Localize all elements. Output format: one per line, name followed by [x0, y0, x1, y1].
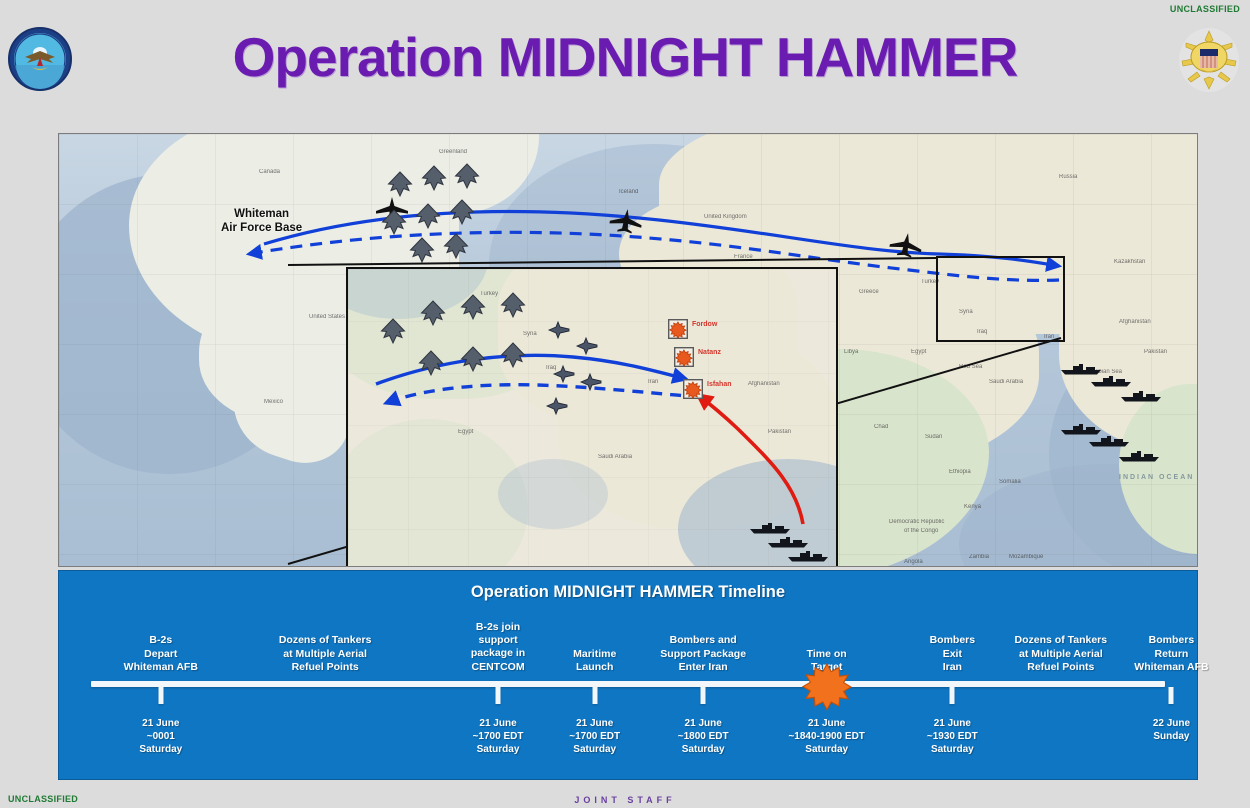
target-label-fordow: Fordow: [692, 321, 717, 328]
fighter-jet-icon: [548, 321, 570, 339]
timeline-event-1: Dozens of Tankersat Multiple AerialRefue…: [279, 634, 372, 674]
inset-map-middle-east: Turkey Syria Iraq Iran Saudi Arabia Egyp…: [346, 267, 838, 567]
timeline-event-7: Dozens of Tankersat Multiple AerialRefue…: [1015, 634, 1108, 674]
slide-canvas: UNCLASSIFIED UNCLASSIFIED JOINT STAFF Op…: [0, 0, 1250, 808]
timeline-date-5: 21 June~1930 EDTSaturday: [927, 717, 978, 757]
b2-bomber-icon: [500, 293, 526, 317]
timeline-event-3: MaritimeLaunch: [573, 648, 616, 675]
timeline-tick-2: [592, 687, 597, 704]
timeline-panel: Operation MIDNIGHT HAMMER Timeline B-2sD…: [58, 570, 1198, 780]
b2-bomber-icon: [500, 343, 526, 367]
timeline-tick-3: [701, 687, 706, 704]
timeline-tick-6: [1169, 687, 1174, 704]
fighter-jet-icon: [553, 365, 575, 383]
target-isfahan: [683, 379, 703, 399]
department-of-defense-seal-icon: [8, 27, 72, 91]
fighter-jet-icon: [546, 397, 568, 415]
fighter-jet-icon: [580, 373, 602, 391]
timeline-event-6: BombersExitIran: [930, 634, 976, 674]
timeline-date-6: 22 JuneSunday: [1153, 717, 1190, 743]
time-on-target-burst-icon: [805, 664, 849, 708]
joint-staff-crest-icon: [1178, 27, 1240, 93]
b2-bomber-icon: [420, 301, 446, 325]
timeline-event-0: B-2sDepartWhiteman AFB: [124, 634, 198, 674]
b2-bomber-icon: [418, 351, 444, 375]
timeline-event-4: Bombers andSupport PackageEnter Iran: [660, 634, 746, 674]
naval-ship-icon: [748, 521, 792, 534]
timeline-tick-5: [950, 687, 955, 704]
target-fordow: [668, 319, 688, 339]
page-title: Operation MIDNIGHT HAMMER: [120, 30, 1130, 85]
fighter-jet-icon: [576, 337, 598, 355]
b2-bomber-icon: [380, 319, 406, 343]
target-label-isfahan: Isfahan: [707, 381, 732, 388]
timeline-event-2: B-2s joinsupportpackage inCENTCOM: [471, 621, 525, 675]
b2-bomber-icon: [460, 347, 486, 371]
timeline-tick-1: [496, 687, 501, 704]
timeline-axis: [91, 681, 1165, 687]
timeline-title: Operation MIDNIGHT HAMMER Timeline: [59, 583, 1197, 602]
timeline-event-8: BombersReturnWhiteman AFB: [1134, 634, 1208, 674]
timeline-date-1: 21 June~1700 EDTSaturday: [473, 717, 524, 757]
timeline-date-0: 21 June~0001Saturday: [139, 717, 182, 757]
target-natanz: [674, 347, 694, 367]
timeline-date-2: 21 June~1700 EDTSaturday: [569, 717, 620, 757]
timeline-tick-0: [158, 687, 163, 704]
target-label-natanz: Natanz: [698, 349, 721, 356]
timeline-date-3: 21 June~1800 EDTSaturday: [678, 717, 729, 757]
timeline-date-4: 21 June~1840-1900 EDTSaturday: [788, 717, 864, 757]
b2-bomber-icon: [460, 295, 486, 319]
naval-ship-icon: [786, 549, 830, 562]
naval-ship-icon: [766, 535, 810, 548]
slide-header: Operation MIDNIGHT HAMMER: [0, 0, 1250, 118]
operation-map: Canada United States Mexico Gulf of Mexi…: [58, 133, 1198, 567]
footer-organization: JOINT STAFF: [0, 795, 1250, 805]
map-canvas: Canada United States Mexico Gulf of Mexi…: [59, 134, 1197, 566]
